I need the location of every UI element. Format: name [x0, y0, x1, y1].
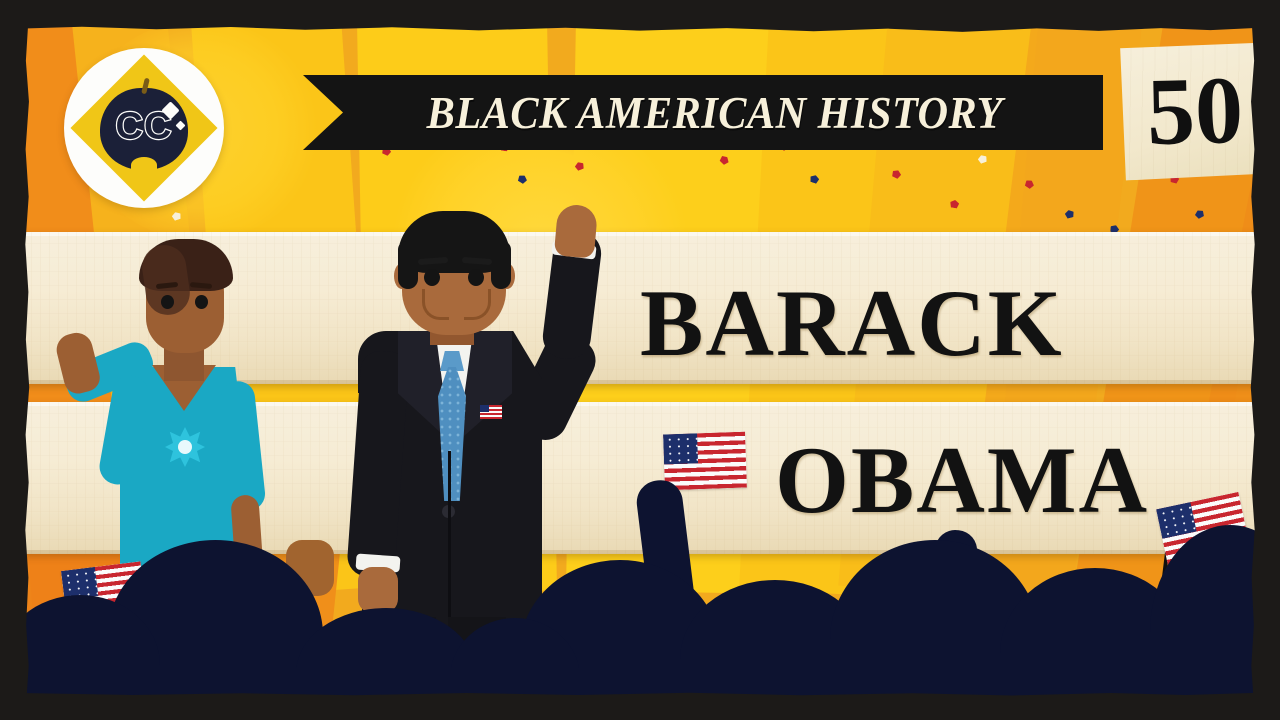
series-title-banner: BLACK AMERICAN HISTORY — [303, 75, 1103, 150]
michelle-eye-right — [195, 295, 208, 309]
michelle-hand-raised — [53, 330, 102, 397]
barack-hair-side-left — [398, 241, 418, 289]
title-first-name: BARACK — [640, 268, 1064, 378]
barack-hair-side-right — [491, 241, 511, 289]
barack-eye-left — [424, 269, 440, 286]
barack-jacket-seam — [448, 451, 451, 631]
thumbnail-stage: BARACK OBAMA — [0, 0, 1280, 720]
apple-notch — [131, 157, 157, 173]
michelle-brooch-center — [178, 440, 192, 454]
artwork-canvas: BARACK OBAMA — [20, 20, 1260, 700]
title-last-name: OBAMA — [775, 425, 1149, 535]
episode-number-card: 50 — [1119, 42, 1260, 180]
barack-hand-waving — [554, 203, 598, 258]
crash-course-logo: CC — [64, 48, 224, 208]
series-title-text: BLACK AMERICAN HISTORY — [404, 87, 1003, 139]
episode-number-text: 50 — [1146, 67, 1244, 155]
barack-lapel-pin-canton — [480, 405, 489, 412]
michelle-eye-left — [161, 295, 174, 309]
barack-hand-left — [358, 567, 398, 613]
barack-eye-right — [468, 269, 484, 286]
